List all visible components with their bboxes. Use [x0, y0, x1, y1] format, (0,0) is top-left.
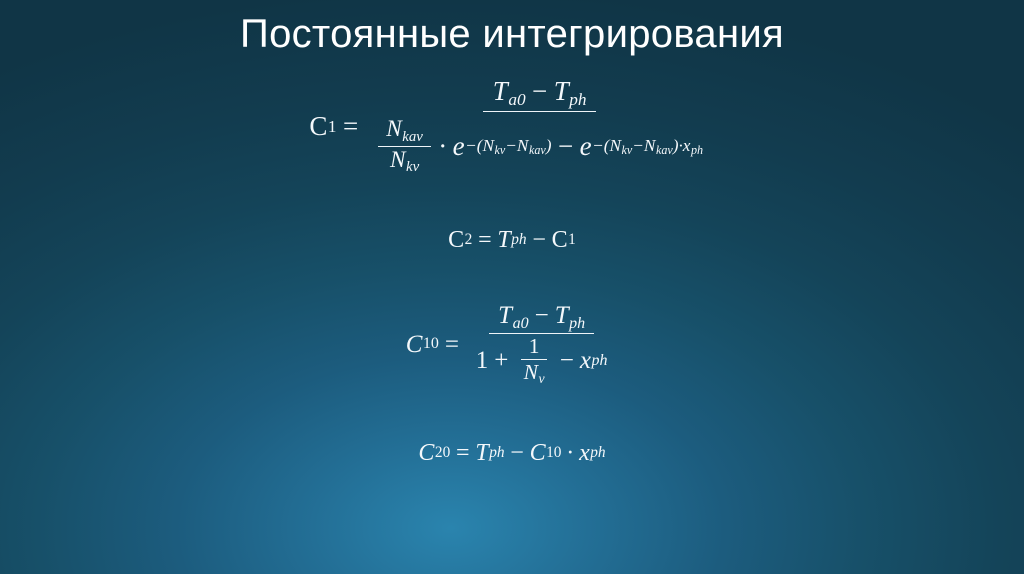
num-t1: T	[493, 76, 508, 106]
exp2-mid: −N	[632, 136, 655, 155]
formula-c20-lhs-subscript: 20	[435, 445, 450, 460]
den-minus: −	[558, 133, 573, 160]
exp2-sub2: kav	[656, 143, 673, 157]
formula-c20-tph-sub: ph	[489, 445, 504, 460]
c10-den-inner-num: 1	[521, 336, 547, 360]
formula-c2-minus: −	[532, 228, 546, 252]
formula-c20-tph: T	[475, 441, 488, 465]
nkv: Nkv	[382, 147, 427, 175]
nkv-n: N	[390, 147, 406, 173]
exp2-power-open: −(N	[592, 136, 621, 155]
c10-num-t1: T	[498, 302, 512, 329]
formula-c1-denominator: Nkav Nkv · e−(Nkv−Nkav) − e−(Nkv−Nkav)·x…	[367, 112, 713, 175]
c10-den-inner-n-sub: v	[538, 371, 544, 386]
formula-c20-c10: C	[530, 441, 546, 465]
c10-den-plus: +	[494, 348, 508, 373]
den-mult-dot: ·	[438, 133, 447, 160]
exp1-mid: −N	[505, 136, 528, 155]
c10-num-minus: −	[535, 302, 549, 329]
formula-c10-denominator: 1 + 1 Nv − xph	[467, 334, 616, 385]
nkv-sub: kv	[406, 159, 419, 175]
nkav: Nkav	[378, 118, 431, 147]
formula-c20-x-sub: ph	[590, 445, 605, 460]
c10-den-inner-n: N	[524, 360, 538, 384]
exp2-power: −(Nkv−Nkav)·xph	[592, 137, 703, 156]
exp1-sub1: kv	[495, 143, 506, 157]
formula-c20-equals: =	[456, 441, 470, 465]
formula-c1-fraction: Ta0−Tph Nkav Nkv · e−(Nkv−Nkav) − e−(Nkv…	[367, 78, 713, 175]
formula-c1-lhs-subscript: 1	[328, 118, 337, 135]
c10-den-one: 1	[476, 348, 489, 373]
c10-den-inner-den: Nv	[516, 360, 552, 386]
c10-den-minus: −	[560, 348, 574, 373]
exp1-power-open: −(N	[465, 136, 494, 155]
num-t2: T	[554, 76, 569, 106]
num-minus: −	[532, 76, 547, 106]
formula-c2-tph: T	[497, 228, 510, 252]
page-title: Постоянные интегрирования	[0, 12, 1024, 57]
nkav-n: N	[386, 116, 402, 142]
formula-c2: C2 = Tph − C1	[0, 228, 1024, 252]
exp1-sub2: kav	[529, 143, 546, 157]
c10-num-t2: T	[555, 302, 569, 329]
formula-c1-lhs: C	[309, 113, 327, 140]
formula-c10-lhs-subscript: 10	[423, 336, 439, 352]
formula-c1-numerator: Ta0−Tph	[483, 78, 596, 112]
formula-c2-c1: C	[552, 228, 568, 252]
num-t2-sub: ph	[569, 90, 586, 109]
formula-c20-lhs: C	[418, 441, 434, 465]
exp2-base: e	[580, 133, 592, 160]
formula-c1: C1 = Ta0−Tph Nkav Nkv · e−(Nkv−Nkav) − e…	[0, 78, 1024, 175]
exp1-power: −(Nkv−Nkav)	[465, 137, 551, 156]
formula-c10-fraction: Ta0−Tph 1 + 1 Nv − xph	[467, 303, 616, 386]
formula-c10: C10 = Ta0−Tph 1 + 1 Nv − xph	[0, 303, 1024, 386]
c10-den-inner-fraction: 1 Nv	[516, 336, 552, 385]
formula-c20-c10-sub: 10	[546, 445, 561, 460]
formula-c20: C20 = Tph − C10 · xph	[0, 441, 1024, 465]
c10-num-t1-sub: a0	[513, 315, 529, 332]
exp2-sub1: kv	[622, 143, 633, 157]
formula-c20-mult-dot: ·	[566, 441, 574, 465]
formula-c20-minus: −	[510, 441, 524, 465]
c10-den-x-sub: ph	[592, 353, 608, 369]
exp1-close: )	[546, 136, 552, 155]
formula-c1-equals: =	[343, 113, 358, 140]
c10-num-t2-sub: ph	[569, 315, 585, 332]
exp1-base: e	[453, 133, 465, 160]
formula-c2-c1-sub: 1	[568, 232, 576, 247]
nkav-sub: kav	[402, 129, 423, 145]
exp2-sub3: ph	[691, 143, 703, 157]
formula-c10-equals: =	[445, 332, 459, 357]
formula-c10-lhs: C	[406, 332, 423, 357]
formula-c2-equals: =	[478, 228, 492, 252]
c10-den-x: x	[580, 348, 591, 373]
exp2-close: )·x	[673, 136, 691, 155]
num-t1-sub: a0	[508, 90, 525, 109]
formula-c1-nkav-nkv-fraction: Nkav Nkv	[378, 118, 431, 175]
formula-c2-tph-sub: ph	[511, 232, 526, 247]
formula-c20-x: x	[579, 441, 590, 465]
formula-c2-lhs: C	[448, 228, 464, 252]
formula-c10-numerator: Ta0−Tph	[489, 303, 593, 334]
formula-c2-lhs-subscript: 2	[465, 232, 473, 247]
slide-canvas: Постоянные интегрирования C1 = Ta0−Tph N…	[0, 0, 1024, 574]
